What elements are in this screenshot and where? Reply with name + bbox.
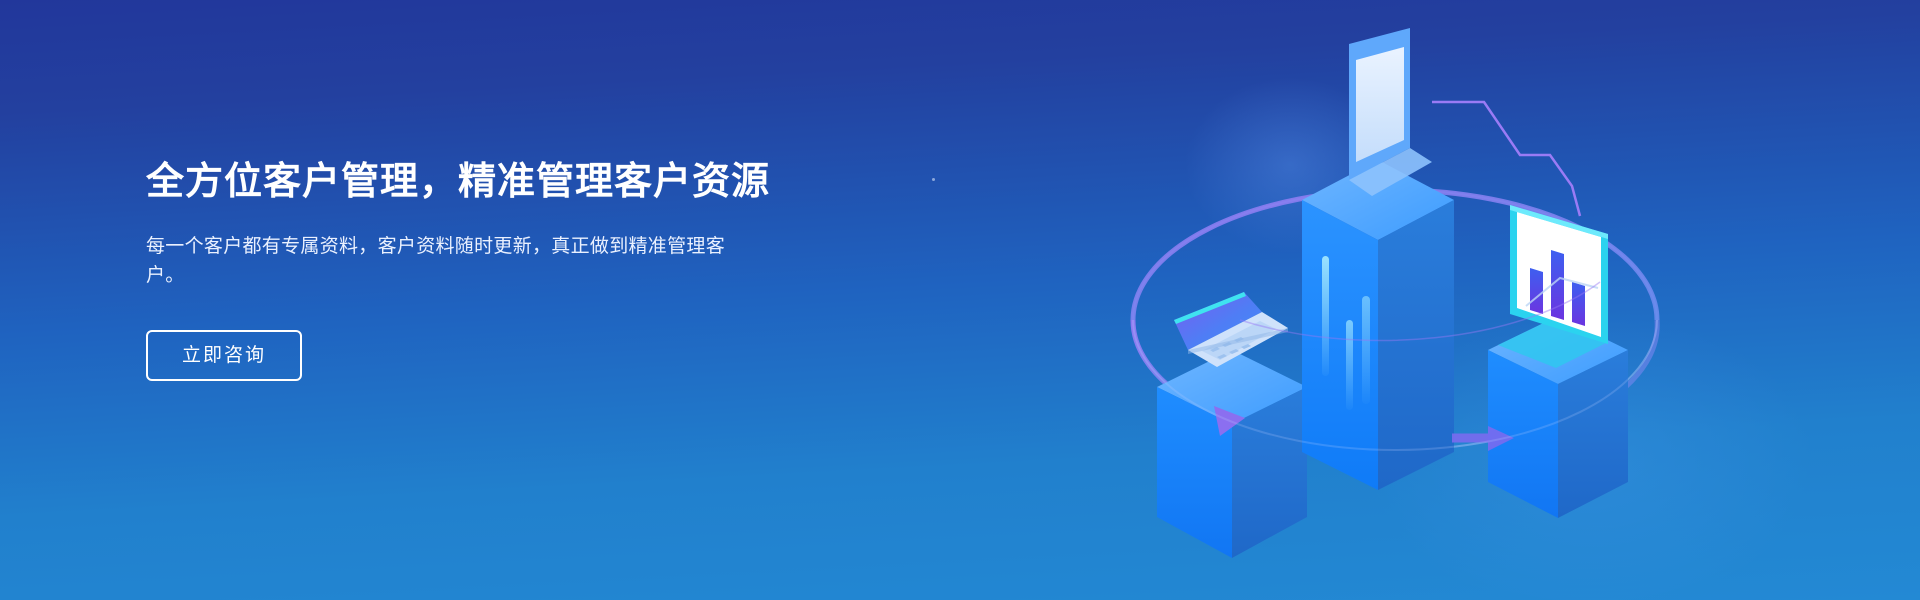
hero-illustration <box>1080 20 1700 580</box>
hero-copy: 全方位客户管理，精准管理客户资源 每一个客户都有专属资料，客户资料随时更新，真正… <box>146 160 786 381</box>
laptop-icon <box>1174 292 1288 367</box>
page-subtitle: 每一个客户都有专属资料，客户资料随时更新，真正做到精准管理客户。 <box>146 232 726 291</box>
tablet-icon <box>1349 28 1432 196</box>
pillar-center <box>1302 160 1454 490</box>
page-title: 全方位客户管理，精准管理客户资源 <box>146 160 786 206</box>
hero-banner: 全方位客户管理，精准管理客户资源 每一个客户都有专属资料，客户资料随时更新，真正… <box>0 0 1920 600</box>
connector-line <box>1432 102 1580 216</box>
decorative-spark <box>932 178 935 181</box>
consult-now-button[interactable]: 立即咨询 <box>146 330 302 381</box>
pillar-left <box>1157 350 1307 558</box>
monitor-icon <box>1498 205 1608 368</box>
